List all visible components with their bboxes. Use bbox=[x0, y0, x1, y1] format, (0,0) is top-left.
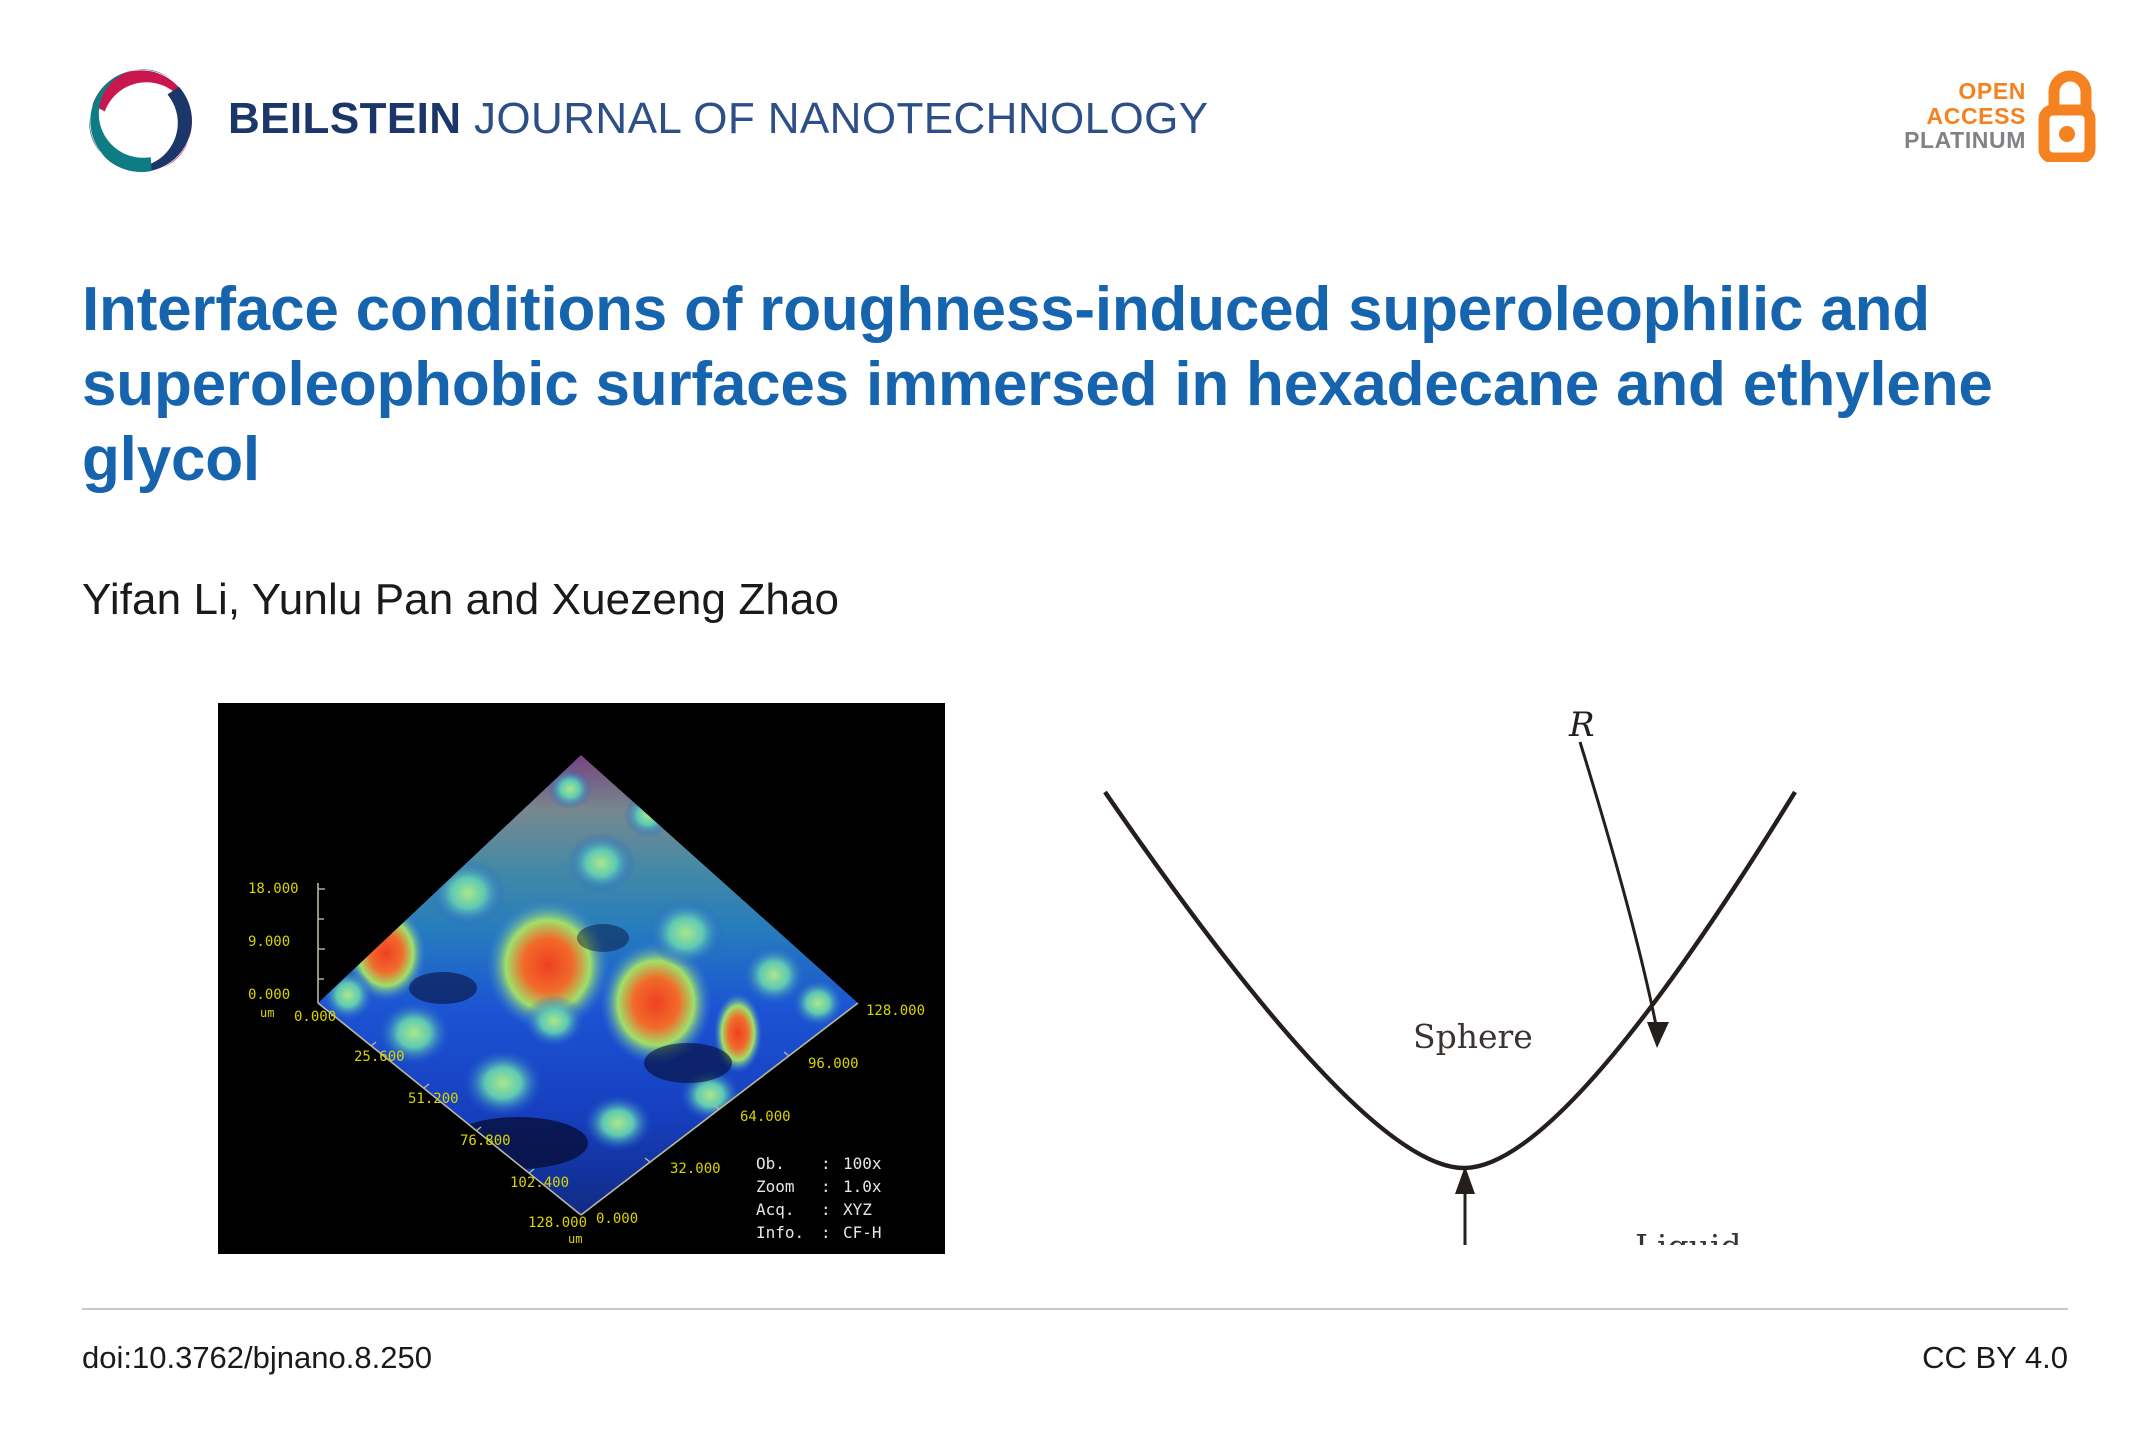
afm-left-label-4: 128.000 bbox=[528, 1215, 587, 1231]
svg-text::: : bbox=[821, 1154, 831, 1173]
svg-text:CF-H: CF-H bbox=[843, 1223, 882, 1242]
afm-right-origin: 0.000 bbox=[596, 1211, 638, 1227]
afm-info-key-1: Zoom bbox=[756, 1177, 795, 1196]
open-access-line-access: ACCESS bbox=[1927, 104, 2026, 129]
afm-left-unit: um bbox=[568, 1232, 582, 1246]
journal-title-bold: BEILSTEIN bbox=[228, 94, 461, 143]
svg-text:1.0x: 1.0x bbox=[843, 1177, 882, 1196]
afm-info-sep-2: : bbox=[821, 1200, 831, 1219]
svg-text::: : bbox=[821, 1223, 831, 1242]
svg-text:100x: 100x bbox=[843, 1154, 882, 1173]
afm-info-key-2: Acq. bbox=[756, 1200, 795, 1219]
afm-info-value-1: 1.0x bbox=[843, 1177, 882, 1196]
afm-right-label-3: 128.000 bbox=[866, 1003, 925, 1019]
afm-left-label-3: 102.400 bbox=[510, 1175, 569, 1191]
journal-title: BEILSTEIN JOURNAL OF NANOTECHNOLOGY bbox=[228, 97, 1208, 145]
sphere-label: Sphere bbox=[1413, 1017, 1533, 1056]
svg-text::: : bbox=[821, 1177, 831, 1196]
afm-info-sep-0: : bbox=[821, 1154, 831, 1173]
afm-info-sep-3: : bbox=[821, 1223, 831, 1242]
svg-text::: : bbox=[821, 1200, 831, 1219]
journal-brand: BEILSTEIN JOURNAL OF NANOTECHNOLOGY bbox=[82, 62, 1208, 180]
figure-contact-schematic: R Sphere D’ Liquid bbox=[1035, 700, 2035, 1245]
svg-text:Info.: Info. bbox=[756, 1223, 804, 1242]
svg-text:Ob.: Ob. bbox=[756, 1154, 785, 1173]
license-text: CC BY 4.0 bbox=[1922, 1340, 2068, 1376]
page-title: Interface conditions of roughness-induce… bbox=[82, 272, 2042, 497]
doi-text: doi:10.3762/bjnano.8.250 bbox=[82, 1340, 432, 1376]
afm-z-unit: um bbox=[260, 1006, 274, 1020]
liquid-label: Liquid bbox=[1635, 1227, 1742, 1245]
afm-z-label-2: 0.000 bbox=[248, 987, 290, 1003]
afm-info-sep-1: : bbox=[821, 1177, 831, 1196]
afm-right-label-2: 96.000 bbox=[808, 1056, 859, 1072]
afm-z-label-1: 9.000 bbox=[248, 934, 290, 950]
afm-right-label-0: 32.000 bbox=[670, 1161, 721, 1177]
afm-left-origin: 0.000 bbox=[294, 1009, 336, 1025]
svg-text:Acq.: Acq. bbox=[756, 1200, 795, 1219]
author-list: Yifan Li, Yunlu Pan and Xuezeng Zhao bbox=[82, 575, 839, 625]
afm-info-value-3: CF-H bbox=[843, 1223, 882, 1242]
page-header: BEILSTEIN JOURNAL OF NANOTECHNOLOGY OPEN… bbox=[0, 0, 2150, 190]
journal-title-light: JOURNAL OF NANOTECHNOLOGY bbox=[461, 94, 1208, 143]
afm-z-label-0: 18.000 bbox=[248, 881, 299, 897]
afm-info-key-3: Info. bbox=[756, 1223, 804, 1242]
afm-left-label-2: 76.800 bbox=[460, 1133, 511, 1149]
afm-info-value-2: XYZ bbox=[843, 1200, 872, 1219]
open-access-line-open: OPEN bbox=[1958, 79, 2026, 104]
afm-right-label-1: 64.000 bbox=[740, 1109, 791, 1125]
open-access-line-platinum: PLATINUM bbox=[1904, 128, 2026, 153]
open-padlock-icon bbox=[2036, 70, 2098, 162]
afm-info-key-0: Ob. bbox=[756, 1154, 785, 1173]
afm-left-label-1: 51.200 bbox=[408, 1091, 459, 1107]
radius-label: R bbox=[1568, 705, 1595, 745]
footer-divider bbox=[82, 1308, 2068, 1310]
figure-afm-topography: 18.000 9.000 0.000 um 0.000 25.600 51.20… bbox=[218, 703, 945, 1254]
open-access-words: OPEN ACCESS PLATINUM bbox=[1904, 79, 2026, 153]
svg-text:Zoom: Zoom bbox=[756, 1177, 795, 1196]
svg-text:XYZ: XYZ bbox=[843, 1200, 872, 1219]
afm-info-value-0: 100x bbox=[843, 1154, 882, 1173]
afm-left-label-0: 25.600 bbox=[354, 1049, 405, 1065]
beilstein-spiral-logo-icon bbox=[82, 62, 200, 180]
open-access-badge: OPEN ACCESS PLATINUM bbox=[1904, 70, 2098, 162]
